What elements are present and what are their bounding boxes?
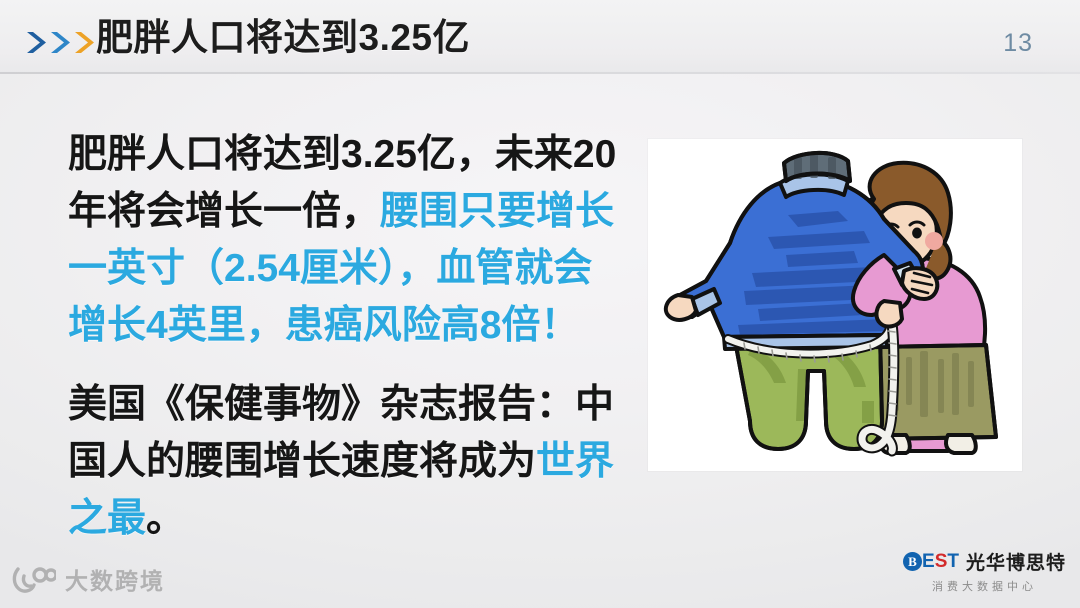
paragraph-2: 美国《保健事物》杂志报告：中国人的腰围增长速度将成为世界之最。 (68, 376, 623, 547)
brand-tagline: 消费大数据中心 (932, 578, 1037, 594)
page-title: 肥胖人口将达到3.25亿 (96, 16, 470, 60)
body-text-block: 肥胖人口将达到3.25亿，未来20年将会增长一倍，腰围只要增长一英寸（2.54厘… (68, 126, 623, 547)
paragraph-1: 肥胖人口将达到3.25亿，未来20年将会增长一倍，腰围只要增长一英寸（2.54厘… (68, 126, 623, 354)
best-e-letter: E (922, 552, 935, 571)
chevron-right-icon-2 (48, 30, 71, 55)
illustration-panel (648, 139, 1022, 471)
best-s-letter: S (935, 552, 948, 571)
page-number: 13 (1003, 28, 1033, 58)
best-wordmark: B E S T (903, 552, 959, 571)
paragraph-2-tail: 。 (146, 497, 185, 540)
header-divider (0, 72, 1080, 74)
obese-couple-measuring-waist-illustration (648, 139, 1022, 471)
chevron-group-icon (24, 30, 95, 55)
slide-header: 肥胖人口将达到3.25亿 13 (0, 0, 1080, 73)
watermark: 大数跨境 (10, 562, 165, 596)
brand-logo-row: B E S T 光华博思特 (903, 548, 1066, 575)
best-b-letter: B (903, 552, 922, 571)
paragraph-2-black: 美国《保健事物》杂志报告：中国人的腰围增长速度将成为 (68, 383, 614, 483)
brand-name-cn: 光华博思特 (966, 548, 1066, 575)
best-t-letter: T (947, 552, 959, 571)
brand-logo: B E S T 光华博思特 消费大数据中心 (903, 548, 1066, 594)
watermark-text: 大数跨境 (65, 562, 165, 596)
dashukuajing-logo-icon (10, 564, 56, 594)
slide: 肥胖人口将达到3.25亿 13 肥胖人口将达到3.25亿，未来20年将会增长一倍… (0, 0, 1080, 608)
chevron-right-icon-1 (24, 30, 47, 55)
chevron-right-icon-3 (72, 30, 95, 55)
